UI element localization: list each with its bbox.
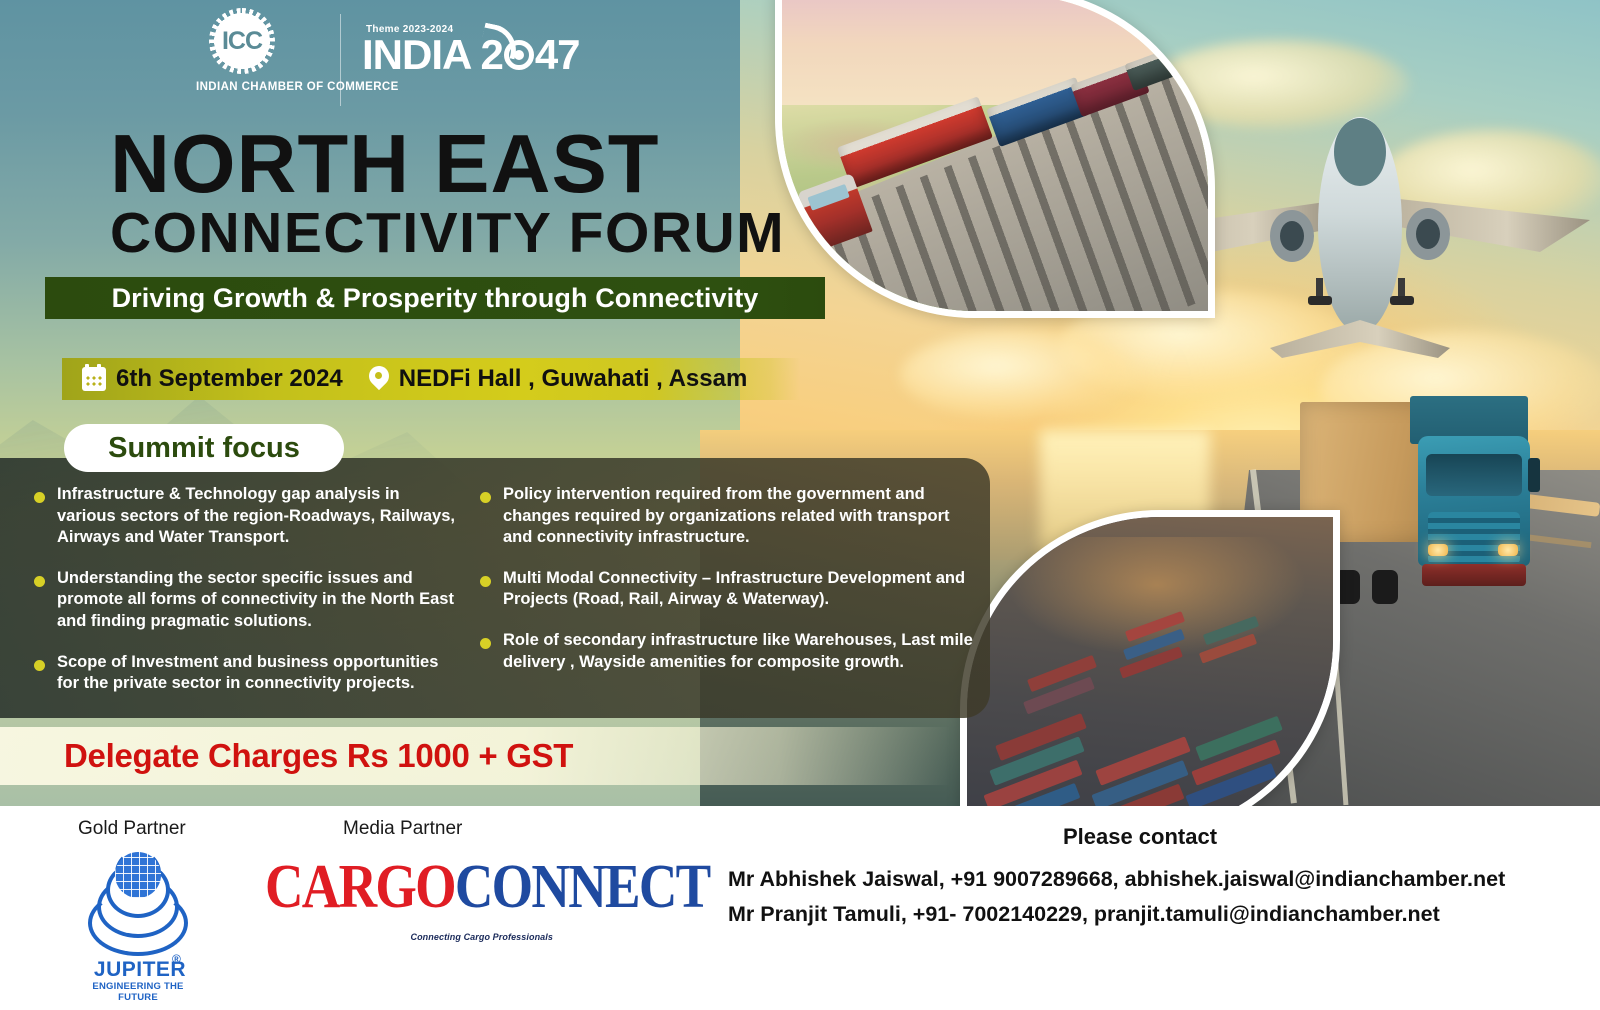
- tagline-text: Driving Growth & Prosperity through Conn…: [112, 283, 759, 314]
- event-venue: NEDFi Hall , Guwahati , Assam: [399, 365, 748, 393]
- footer: Gold Partner Media Partner JUPITER ® ENG…: [0, 806, 1600, 1010]
- tagline-banner: Driving Growth & Prosperity through Conn…: [45, 277, 825, 319]
- globe-icon: [115, 852, 161, 898]
- contact-line-2: Mr Pranjit Tamuli, +91- 7002140229, pran…: [728, 902, 1580, 927]
- list-item-text: Policy intervention required from the go…: [503, 484, 974, 549]
- title-line-2: CONNECTIVITY FORUM: [110, 207, 810, 259]
- jupiter-logo: JUPITER ® ENGINEERING THE FUTURE: [82, 848, 194, 988]
- list-item: Role of secondary infrastructure like Wa…: [480, 630, 974, 673]
- list-item: Scope of Investment and business opportu…: [34, 652, 460, 695]
- brand-bar: ICC INDIAN CHAMBER OF COMMERCE Theme 202…: [0, 0, 760, 118]
- india-2047-wordmark: INDIA 2 47: [362, 35, 580, 75]
- india-2047-post: 47: [535, 35, 580, 75]
- date-venue-bar: 6th September 2024 NEDFi Hall , Guwahati…: [62, 358, 800, 400]
- summit-focus-pill: Summit focus: [64, 424, 344, 472]
- bullet-dot-icon: [34, 660, 45, 671]
- list-item-text: Infrastructure & Technology gap analysis…: [57, 484, 460, 549]
- bullet-dot-icon: [480, 638, 491, 649]
- freight-train-photo: [775, 0, 1215, 318]
- bullet-dot-icon: [34, 492, 45, 503]
- bullet-dot-icon: [480, 576, 491, 587]
- delegate-charges-text: Delegate Charges Rs 1000 + GST: [64, 737, 573, 775]
- hero-background: ICC INDIAN CHAMBER OF COMMERCE Theme 202…: [0, 0, 1600, 806]
- summit-focus-heading: Summit focus: [108, 432, 300, 465]
- focus-column-left: Infrastructure & Technology gap analysis…: [34, 484, 460, 704]
- icc-name: INDIAN CHAMBER OF COMMERCE: [196, 81, 288, 93]
- cargoconnect-logo: CARGOCONNECT Connecting Cargo Profession…: [265, 858, 555, 954]
- event-date: 6th September 2024: [116, 365, 343, 393]
- globe-rings-icon: [82, 848, 194, 956]
- icc-logo: ICC INDIAN CHAMBER OF COMMERCE: [196, 8, 288, 93]
- event-poster: ICC INDIAN CHAMBER OF COMMERCE Theme 202…: [0, 0, 1600, 1010]
- media-partner-label: Media Partner: [343, 818, 462, 840]
- contact-line-1: Mr Abhishek Jaiswal, +91 9007289668, abh…: [728, 867, 1580, 892]
- cargo-text: CARGO: [265, 853, 455, 921]
- focus-column-right: Policy intervention required from the go…: [474, 484, 974, 704]
- list-item: Understanding the sector specific issues…: [34, 568, 460, 633]
- calendar-icon: [82, 367, 106, 391]
- bullet-dot-icon: [480, 492, 491, 503]
- list-item-text: Multi Modal Connectivity – Infrastructur…: [503, 568, 974, 611]
- delegate-charges-band: Delegate Charges Rs 1000 + GST: [0, 727, 950, 785]
- cloud: [900, 330, 1140, 420]
- list-item-text: Scope of Investment and business opportu…: [57, 652, 460, 695]
- connect-text: CONNECT: [455, 853, 710, 921]
- gold-partner-label: Gold Partner: [78, 818, 186, 840]
- india-2047-logo: Theme 2023-2024 INDIA 2 47: [362, 24, 580, 75]
- list-item-text: Role of secondary infrastructure like Wa…: [503, 630, 974, 673]
- cargoconnect-wordmark: CARGOCONNECT: [265, 858, 514, 917]
- jupiter-tagline: ENGINEERING THE FUTURE: [82, 981, 194, 1003]
- title-line-1: NORTH EAST: [110, 126, 810, 202]
- location-pin-icon: [369, 366, 389, 392]
- list-item-text: Understanding the sector specific issues…: [57, 568, 460, 633]
- list-item: Infrastructure & Technology gap analysis…: [34, 484, 460, 549]
- icc-monogram: ICC: [209, 8, 275, 74]
- contact-heading: Please contact: [700, 824, 1580, 850]
- page-title: NORTH EAST CONNECTIVITY FORUM: [110, 126, 810, 260]
- contact-block: Please contact Mr Abhishek Jaiswal, +91 …: [700, 824, 1580, 927]
- brand-divider: [340, 14, 341, 106]
- gear-icon: ICC: [209, 8, 275, 74]
- list-item: Multi Modal Connectivity – Infrastructur…: [480, 568, 974, 611]
- summit-focus-panel: Infrastructure & Technology gap analysis…: [0, 458, 990, 718]
- registered-mark: ®: [172, 952, 181, 966]
- bullet-dot-icon: [34, 576, 45, 587]
- cargoconnect-tagline: Connecting Cargo Professionals: [410, 932, 553, 942]
- container-port-photo: [960, 510, 1340, 806]
- list-item: Policy intervention required from the go…: [480, 484, 974, 549]
